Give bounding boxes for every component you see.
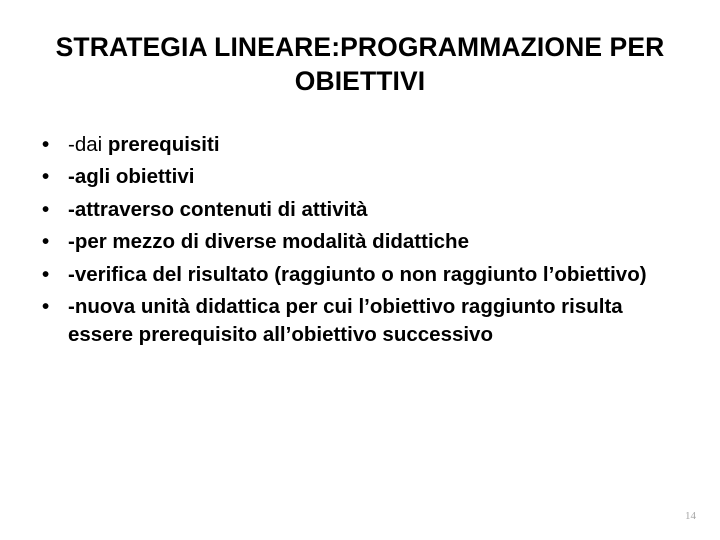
bullet-text-emphasis: -attraverso contenuti di attività bbox=[68, 198, 368, 221]
bullet-text-emphasis: -verifica del risultato (raggiunto o non… bbox=[68, 263, 647, 286]
list-item: • -attraverso contenuti di attività bbox=[34, 196, 686, 224]
bullet-text: -per mezzo di diverse modalità didattich… bbox=[68, 228, 686, 256]
bullet-point-icon: • bbox=[42, 196, 49, 224]
bullet-text-emphasis: -agli obiettivi bbox=[68, 165, 194, 188]
slide-title: STRATEGIA LINEARE:PROGRAMMAZIONE PER OBI… bbox=[45, 30, 675, 99]
bullet-point-icon: • bbox=[42, 228, 49, 256]
bullet-text-emphasis: -nuova unità didattica per cui l’obietti… bbox=[68, 295, 623, 346]
bullet-point-icon: • bbox=[42, 163, 49, 191]
slide-title-line-1: STRATEGIA LINEARE:PROGRAMMAZIONE PER bbox=[45, 30, 675, 64]
bullet-list: • -dai prerequisiti • -agli obiettivi • … bbox=[34, 131, 686, 353]
bullet-text-emphasis: -per mezzo di diverse modalità didattich… bbox=[68, 230, 469, 253]
bullet-point-icon: • bbox=[42, 261, 49, 289]
bullet-point-icon: • bbox=[42, 293, 49, 321]
list-item: • -per mezzo di diverse modalità didatti… bbox=[34, 228, 686, 256]
slide-canvas: STRATEGIA LINEARE:PROGRAMMAZIONE PER OBI… bbox=[0, 0, 720, 540]
list-item: • -nuova unità didattica per cui l’obiet… bbox=[34, 293, 686, 349]
bullet-text: -attraverso contenuti di attività bbox=[68, 196, 686, 224]
bullet-text: -agli obiettivi bbox=[68, 163, 686, 191]
list-item: • -agli obiettivi bbox=[34, 163, 686, 191]
bullet-text: -verifica del risultato (raggiunto o non… bbox=[68, 261, 686, 289]
bullet-text: -dai prerequisiti bbox=[68, 131, 686, 159]
bullet-text-lead: -dai bbox=[68, 133, 108, 156]
bullet-text-emphasis: prerequisiti bbox=[108, 133, 220, 156]
bullet-text: -nuova unità didattica per cui l’obietti… bbox=[68, 293, 686, 349]
slide-title-line-2: OBIETTIVI bbox=[45, 64, 675, 98]
bullet-point-icon: • bbox=[42, 131, 49, 159]
list-item: • -verifica del risultato (raggiunto o n… bbox=[34, 261, 686, 289]
list-item: • -dai prerequisiti bbox=[34, 131, 686, 159]
page-number: 14 bbox=[685, 510, 696, 522]
